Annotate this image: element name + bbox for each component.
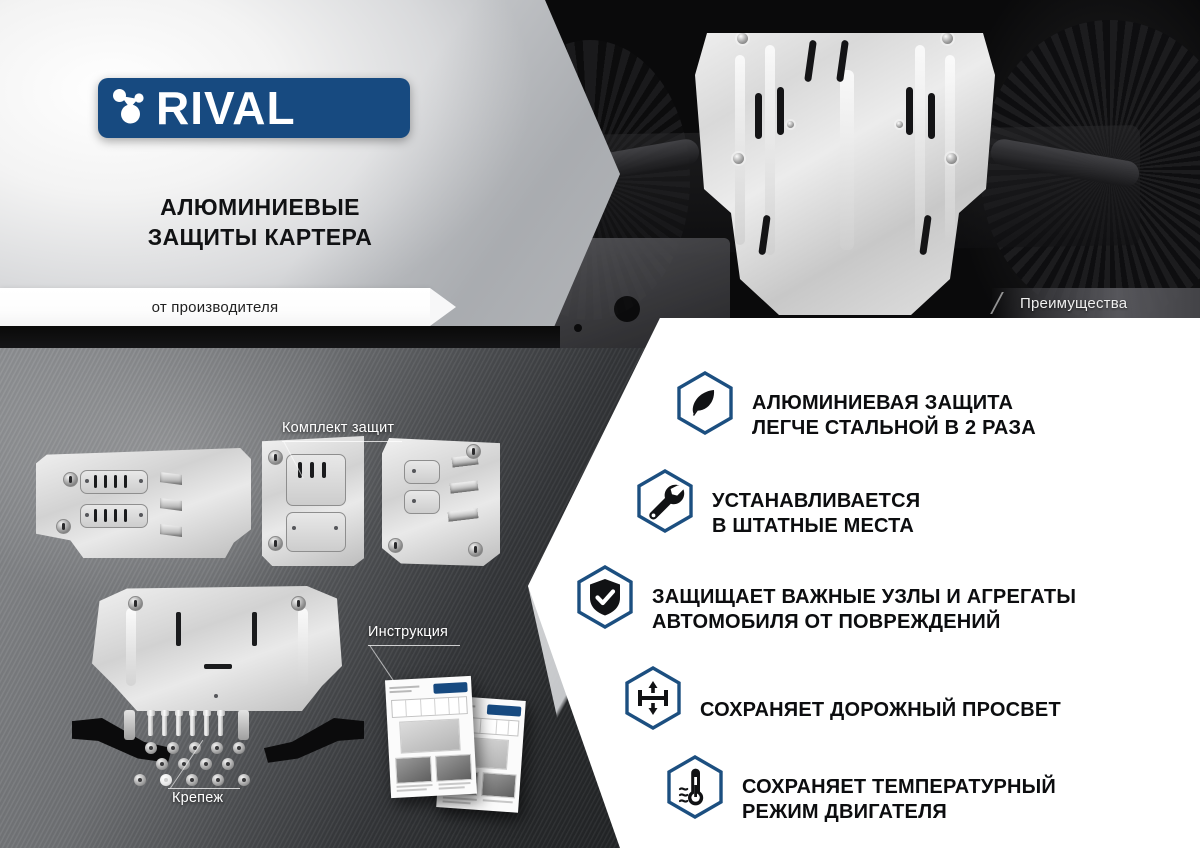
infographic-banner: Преимущества RIVAL АЛЮМИНИЕВЫЕ ЗАЩИТЫ КА… [0,0,1200,848]
feature-item-1[interactable]: УСТАНАВЛИВАЕТСЯВ ШТАТНЫЕ МЕСТА [636,464,1156,538]
skid-plate-3 [382,438,500,566]
advantages-tab[interactable]: Преимущества [992,288,1200,318]
hero-black-band [0,326,560,348]
hero-strip-notch [430,288,456,326]
installed-skid-plate [695,15,995,315]
mounting-bracket-right [264,718,364,770]
callout-instruction-leader [369,645,396,684]
feature-text-3: СОХРАНЯЕТ ДОРОЖНЫЙ ПРОСВЕТ [700,673,1061,723]
feature-text-4: СОХРАНЯЕТ ТЕМПЕРАТУРНЫЙРЕЖИМ ДВИГАТЕЛЯ [742,750,1056,824]
fastener-kit [120,706,260,776]
rival-logo-text: RIVAL [156,85,296,131]
thermometer-icon [666,755,724,819]
callout-fasteners-label: Крепеж [172,790,223,806]
skid-plate-1 [36,448,251,558]
hero-title: АЛЮМИНИЕВЫЕ ЗАЩИТЫ КАРТЕРА [0,192,520,253]
feature-item-0[interactable]: АЛЮМИНИЕВАЯ ЗАЩИТАЛЕГЧЕ СТАЛЬНОЙ В 2 РАЗ… [676,366,1176,440]
ground-clearance-icon [624,666,682,730]
feature-text-1: УСТАНАВЛИВАЕТСЯВ ШТАТНЫЕ МЕСТА [712,464,920,538]
callout-kit-label: Комплект защит [282,420,394,436]
feature-item-4[interactable]: СОХРАНЯЕТ ТЕМПЕРАТУРНЫЙРЕЖИМ ДВИГАТЕЛЯ [666,750,1166,824]
hero-title-line2: ЗАЩИТЫ КАРТЕРА [0,222,520,252]
hero-subtitle-strip: от производителя [0,288,430,326]
feature-text-0: АЛЮМИНИЕВАЯ ЗАЩИТАЛЕГЧЕ СТАЛЬНОЙ В 2 РАЗ… [752,366,1036,440]
feature-item-2[interactable]: ЗАЩИЩАЕТ ВАЖНЫЕ УЗЛЫ И АГРЕГАТЫАВТОМОБИЛ… [576,560,1188,634]
feature-item-3[interactable]: СОХРАНЯЕТ ДОРОЖНЫЙ ПРОСВЕТ [624,666,1164,730]
wrench-icon [636,469,694,533]
shield-check-icon [576,565,634,629]
hero-title-line1: АЛЮМИНИЕВЫЕ [0,192,520,222]
feature-text-2: ЗАЩИЩАЕТ ВАЖНЫЕ УЗЛЫ И АГРЕГАТЫАВТОМОБИЛ… [652,560,1076,634]
hero-subtitle: от производителя [152,299,279,316]
features-panel: АЛЮМИНИЕВАЯ ЗАЩИТАЛЕГЧЕ СТАЛЬНОЙ В 2 РАЗ… [528,318,1200,848]
instruction-sheet-front [385,676,477,798]
callout-instruction-rule [368,645,460,646]
callout-kit-rule [282,441,402,442]
skid-plate-2 [262,436,364,566]
rival-logo[interactable]: RIVAL [98,78,410,138]
callout-fasteners-rule [168,788,240,789]
molecule-icon [108,83,154,134]
feather-icon [676,371,734,435]
callout-instruction-label: Инструкция [368,624,448,640]
skid-plate-4 [92,586,342,711]
